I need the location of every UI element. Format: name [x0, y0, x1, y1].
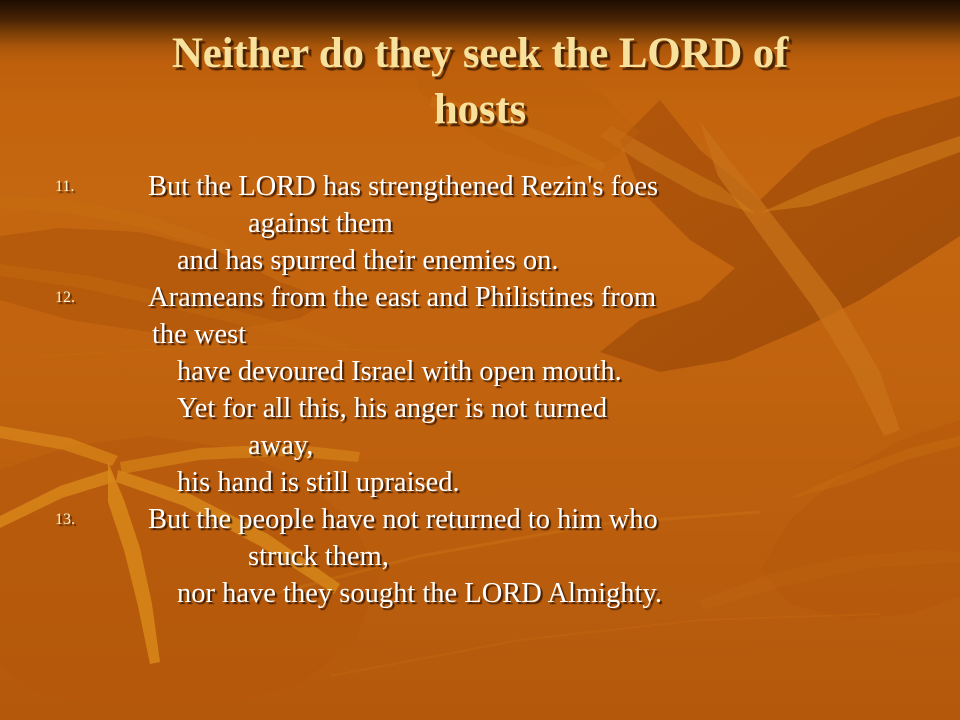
- verse-number-12: 12.: [55, 279, 75, 316]
- verse-line: against them: [0, 205, 960, 242]
- verse-item-11: 11. But the LORD has strengthened Rezin'…: [0, 168, 960, 279]
- presentation-slide: Neither do they seek the LORD of hosts 1…: [0, 0, 960, 720]
- verse-line: But the LORD has strengthened Rezin's fo…: [0, 168, 960, 205]
- verse-line: But the people have not returned to him …: [0, 501, 960, 538]
- verse-line: Yet for all this, his anger is not turne…: [0, 390, 960, 427]
- verse-line: nor have they sought the LORD Almighty.: [0, 575, 960, 612]
- verse-item-12: 12. Arameans from the east and Philistin…: [0, 279, 960, 501]
- verse-line: away,: [0, 427, 960, 464]
- verse-line: and has spurred their enemies on.: [0, 242, 960, 279]
- verse-number-13: 13.: [55, 501, 75, 538]
- verse-item-13: 13. But the people have not returned to …: [0, 501, 960, 612]
- verse-line: his hand is still upraised.: [0, 464, 960, 501]
- verse-number-11: 11.: [55, 168, 74, 205]
- verse-line: have devoured Israel with open mouth.: [0, 353, 960, 390]
- verse-line: struck them,: [0, 538, 960, 575]
- verse-line: Arameans from the east and Philistines f…: [0, 279, 960, 316]
- slide-body: 11. But the LORD has strengthened Rezin'…: [0, 168, 960, 612]
- verse-line: the west: [0, 316, 960, 353]
- slide-title-line-2: hosts: [50, 82, 910, 138]
- slide-title: Neither do they seek the LORD of hosts: [50, 26, 910, 138]
- slide-title-line-1: Neither do they seek the LORD of: [50, 26, 910, 82]
